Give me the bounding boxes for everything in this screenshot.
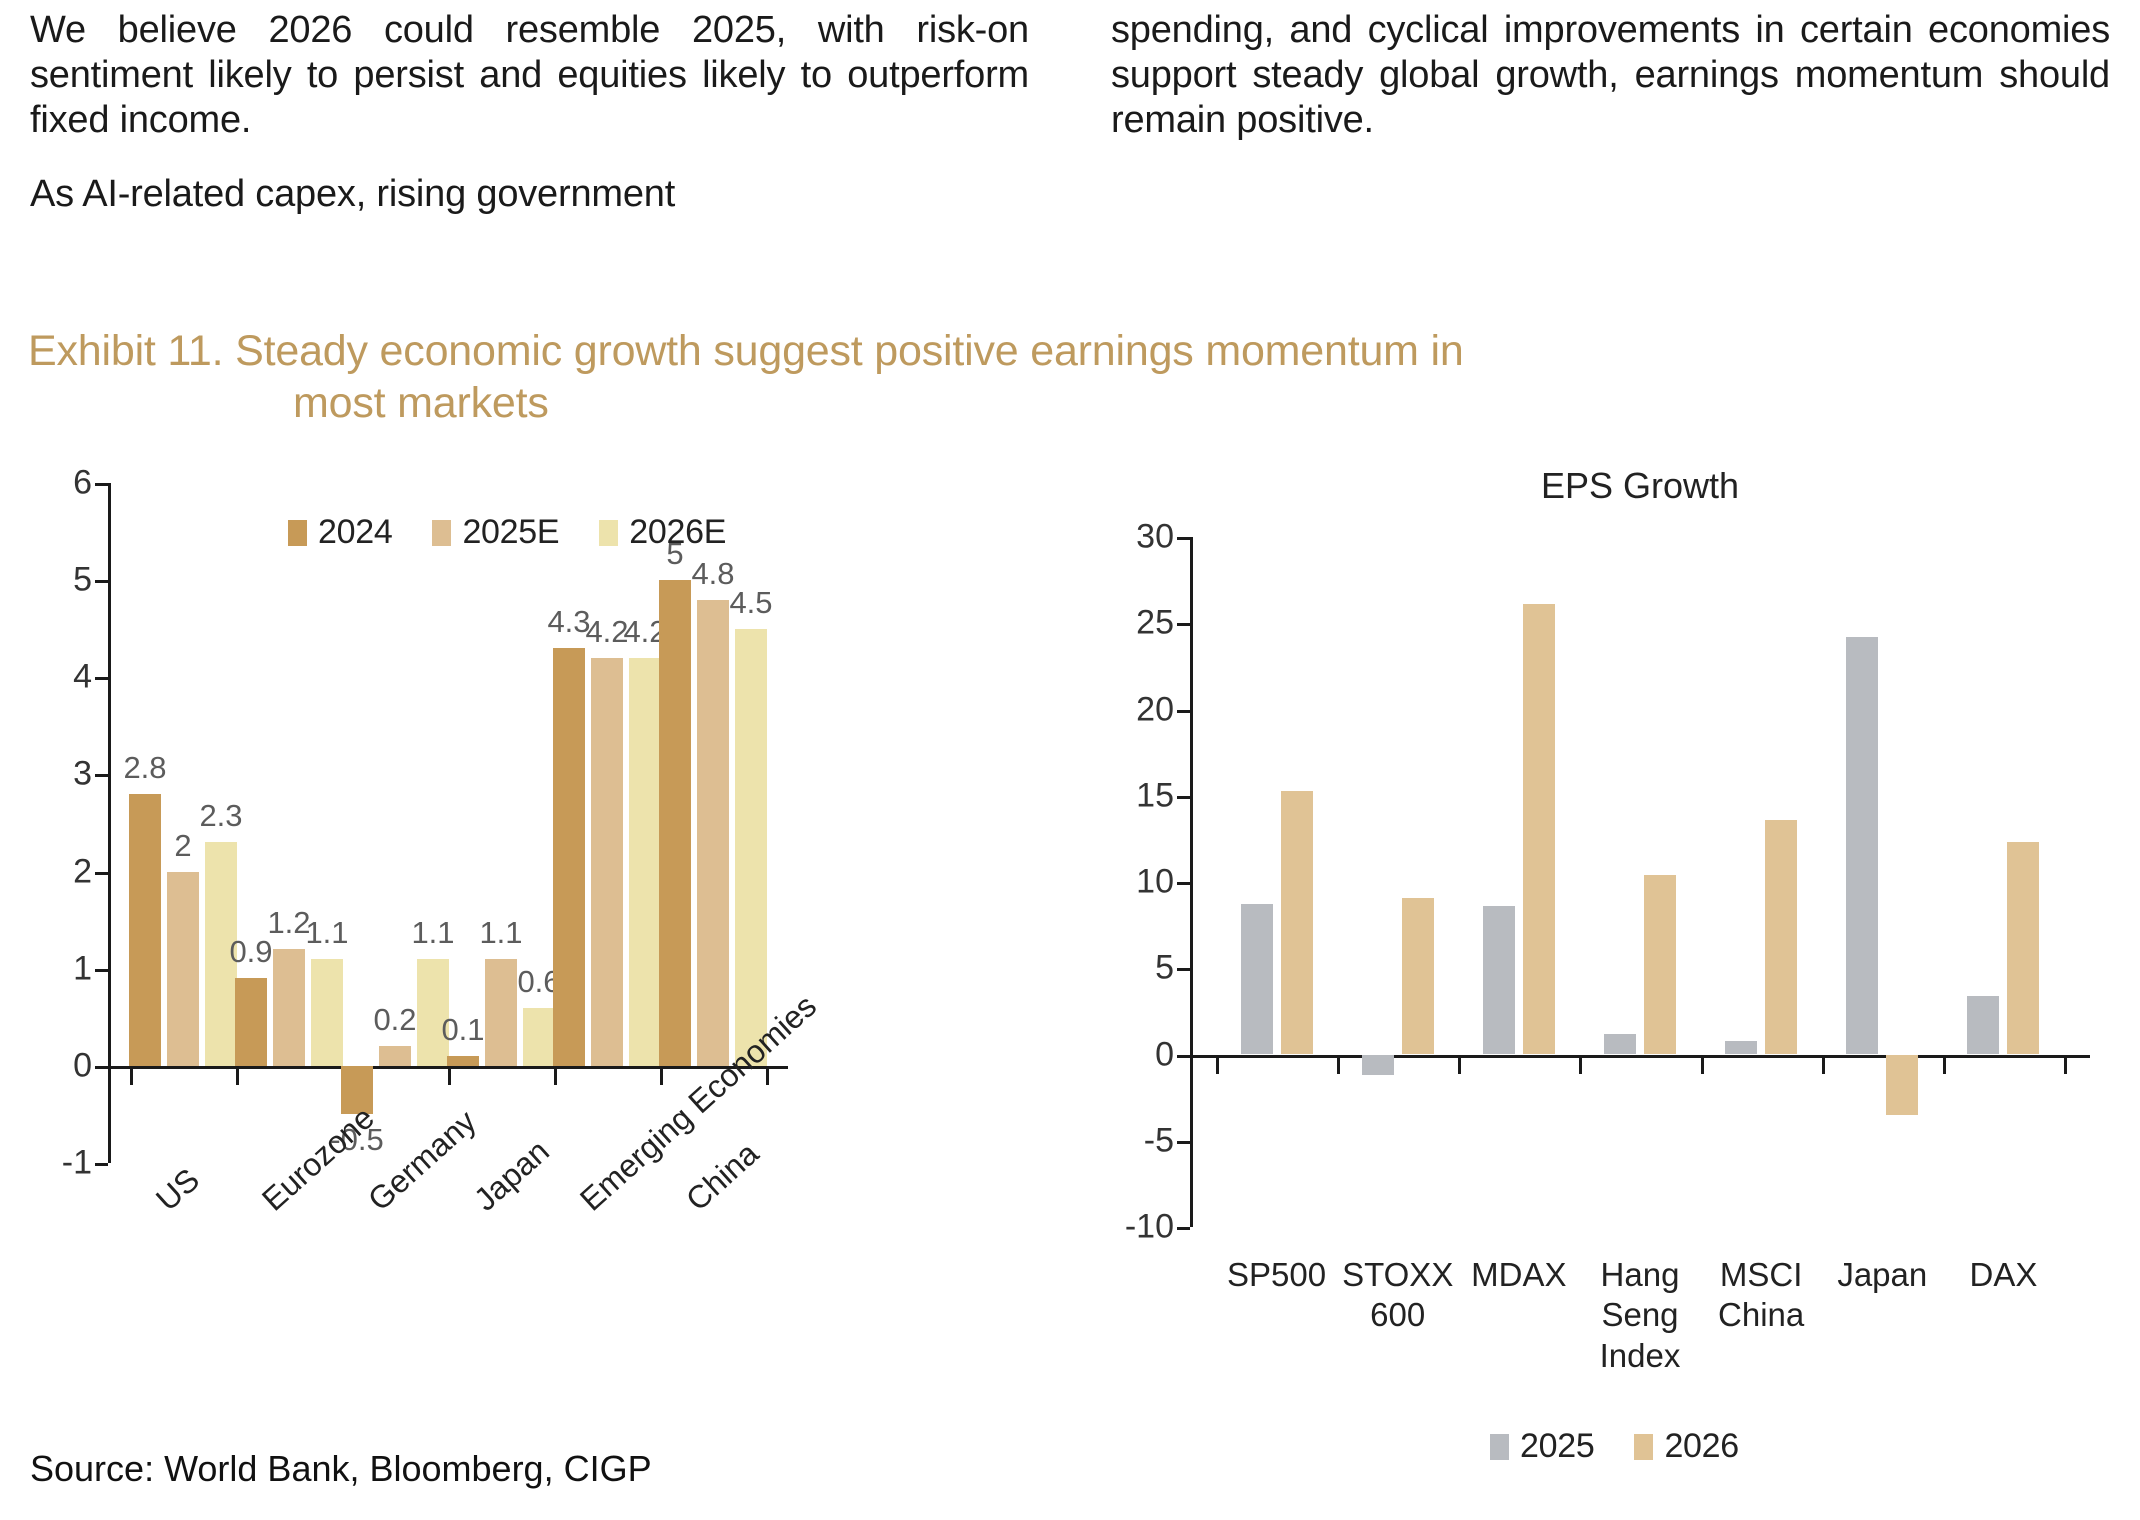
y-axis-tick-label: -1 (30, 1144, 92, 1183)
bar (235, 978, 267, 1065)
bar (1886, 1055, 1918, 1115)
exhibit-title-line-2: most markets (28, 377, 2088, 429)
x-axis-tick-mark (660, 1069, 663, 1085)
y-axis-tick-mark (95, 774, 108, 777)
exhibit-title-line-1: Exhibit 11. Steady economic growth sugge… (28, 327, 1464, 375)
chart-legend: 20242025E2026E (288, 513, 726, 552)
y-axis-tick-label: 15 (1112, 776, 1174, 815)
y-axis-tick-mark (95, 969, 108, 972)
y-axis-tick-label: -10 (1112, 1208, 1174, 1247)
bar (1483, 906, 1515, 1054)
y-axis-tick-mark (1177, 710, 1190, 713)
y-axis-tick-label: 3 (30, 755, 92, 794)
x-axis-tick-mark (448, 1069, 451, 1085)
legend-label: 2026 (1664, 1427, 1738, 1466)
bar (1725, 1041, 1757, 1055)
legend-label: 2025 (1520, 1427, 1594, 1466)
x-axis-category-label: DAX (1928, 1255, 2078, 1295)
y-axis-tick-label: 0 (1112, 1035, 1174, 1074)
bar-value-label: 4.5 (729, 585, 772, 621)
bar-value-label: 1.2 (267, 905, 310, 941)
source-note: Source: World Bank, Bloomberg, CIGP (30, 1448, 652, 1490)
y-axis-tick-mark (95, 483, 108, 486)
bar (311, 959, 343, 1066)
x-axis-tick-mark (1943, 1058, 1946, 1074)
bar (1604, 1034, 1636, 1055)
bar (591, 658, 623, 1066)
exhibit-title: Exhibit 11. Steady economic growth sugge… (28, 325, 2088, 430)
bar-value-label: 2.3 (199, 798, 242, 834)
x-axis-tick-mark (1216, 1058, 1219, 1074)
body-paragraph-1: We believe 2026 could resemble 2025, wit… (30, 8, 1029, 142)
bar-value-label: 1.1 (411, 915, 454, 951)
bar (735, 629, 767, 1066)
bar (553, 648, 585, 1066)
legend-label: 2025E (462, 513, 559, 552)
x-axis-category-label: Japan (467, 1133, 557, 1219)
y-axis-tick-label: 10 (1112, 863, 1174, 902)
x-axis-tick-mark (1337, 1058, 1340, 1074)
legend-swatch-icon (1490, 1434, 1509, 1460)
bar (1402, 898, 1434, 1055)
body-column-left: We believe 2026 could resemble 2025, wit… (30, 8, 1029, 238)
bar (1967, 996, 1999, 1055)
legend-item-2025e[interactable]: 2025E (432, 513, 559, 552)
bar (629, 658, 661, 1066)
bar-value-label: 4.2 (585, 614, 628, 650)
bar (447, 1056, 479, 1066)
bar (485, 959, 517, 1066)
y-axis-tick-mark (1177, 796, 1190, 799)
y-axis-tick-label: 0 (30, 1046, 92, 1085)
x-axis-tick-mark (1458, 1058, 1461, 1074)
y-axis-tick-mark (95, 580, 108, 583)
x-axis-tick-mark (1822, 1058, 1825, 1074)
legend-swatch-icon (432, 520, 451, 546)
y-axis-tick-mark (95, 677, 108, 680)
y-axis-tick-mark (95, 1066, 108, 1069)
x-axis-tick-mark (554, 1069, 557, 1085)
y-axis-tick-label: 5 (1112, 949, 1174, 988)
bar (1281, 791, 1313, 1055)
bar (1362, 1055, 1394, 1076)
y-axis-tick-mark (1177, 1141, 1190, 1144)
bar (697, 600, 729, 1066)
x-axis-category-label: Germany (361, 1103, 484, 1219)
bar (1846, 637, 1878, 1054)
y-axis-tick-label: -5 (1112, 1121, 1174, 1160)
y-axis-tick-label: 20 (1112, 690, 1174, 729)
chart-gdp-growth: -101234562.822.30.91.21.1-0.50.21.10.11.… (30, 465, 1050, 1455)
body-column-right: spending, and cyclical improvements in c… (1111, 8, 2110, 238)
bar (2007, 842, 2039, 1054)
bar-value-label: 2 (174, 828, 191, 864)
y-axis-tick-label: 2 (30, 852, 92, 891)
y-axis-tick-label: 1 (30, 949, 92, 988)
bar (1765, 820, 1797, 1055)
bar (167, 872, 199, 1066)
bar-value-label: 2.8 (123, 750, 166, 786)
charts-container: -101234562.822.30.91.21.1-0.50.21.10.11.… (0, 465, 2140, 1455)
y-axis-tick-mark (1177, 623, 1190, 626)
y-axis-tick-label: 6 (30, 464, 92, 503)
legend-item-2026[interactable]: 2026 (1634, 1427, 1738, 1466)
x-axis-tick-mark (1579, 1058, 1582, 1074)
legend-item-2025[interactable]: 2025 (1490, 1427, 1594, 1466)
legend-label: 2024 (318, 513, 392, 552)
bar (129, 794, 161, 1066)
y-axis-tick-mark (1177, 882, 1190, 885)
legend-label: 2026E (629, 513, 726, 552)
y-axis-tick-mark (95, 1163, 108, 1166)
y-axis-tick-mark (1177, 1055, 1190, 1058)
y-axis-tick-mark (1177, 1227, 1190, 1230)
y-axis-tick-label: 30 (1112, 518, 1174, 557)
x-axis-tick-mark (2064, 1058, 2067, 1074)
x-axis-category-label: China (679, 1135, 766, 1218)
bar-value-label: 4.8 (691, 556, 734, 592)
x-axis-category-label: Eurozone (255, 1099, 382, 1218)
bar-value-label: 1.1 (305, 915, 348, 951)
bar-value-label: 4.3 (547, 604, 590, 640)
y-axis-line (1190, 537, 1193, 1227)
body-paragraph-3: spending, and cyclical improvements in c… (1111, 8, 2110, 142)
x-axis-tick-mark (130, 1069, 133, 1085)
legend-swatch-icon (288, 520, 307, 546)
bar (379, 1046, 411, 1065)
chart-legend: 20252026 (1490, 1427, 1739, 1466)
zero-baseline (1190, 1055, 2090, 1058)
y-axis-line (108, 483, 111, 1163)
article-body: We believe 2026 could resemble 2025, wit… (0, 8, 2140, 238)
bar-value-label: 1.1 (479, 915, 522, 951)
bar (1241, 904, 1273, 1054)
legend-item-2024[interactable]: 2024 (288, 513, 392, 552)
x-axis-tick-mark (1701, 1058, 1704, 1074)
y-axis-tick-mark (95, 872, 108, 875)
y-axis-tick-label: 25 (1112, 604, 1174, 643)
bar-value-label: 0.1 (441, 1012, 484, 1048)
x-axis-tick-mark (236, 1069, 239, 1085)
legend-item-2026e[interactable]: 2026E (599, 513, 726, 552)
bar (1523, 604, 1555, 1054)
y-axis-tick-mark (1177, 537, 1190, 540)
chart-eps-growth: -10-5051015202530EPS GrowthSP500STOXX 60… (1080, 465, 2120, 1455)
bar-value-label: 0.9 (229, 934, 272, 970)
x-axis-tick-mark (766, 1069, 769, 1085)
bar (273, 949, 305, 1066)
y-axis-tick-mark (1177, 968, 1190, 971)
x-axis-category-label: US (149, 1161, 207, 1218)
legend-swatch-icon (599, 520, 618, 546)
bar (1644, 875, 1676, 1054)
bar (523, 1008, 555, 1066)
chart-title: EPS Growth (1541, 465, 1739, 507)
bar (659, 580, 691, 1066)
body-paragraph-2: As AI-related capex, rising government (30, 172, 1029, 217)
legend-swatch-icon (1634, 1434, 1653, 1460)
y-axis-tick-label: 5 (30, 561, 92, 600)
y-axis-tick-label: 4 (30, 658, 92, 697)
bar-value-label: 0.2 (373, 1002, 416, 1038)
